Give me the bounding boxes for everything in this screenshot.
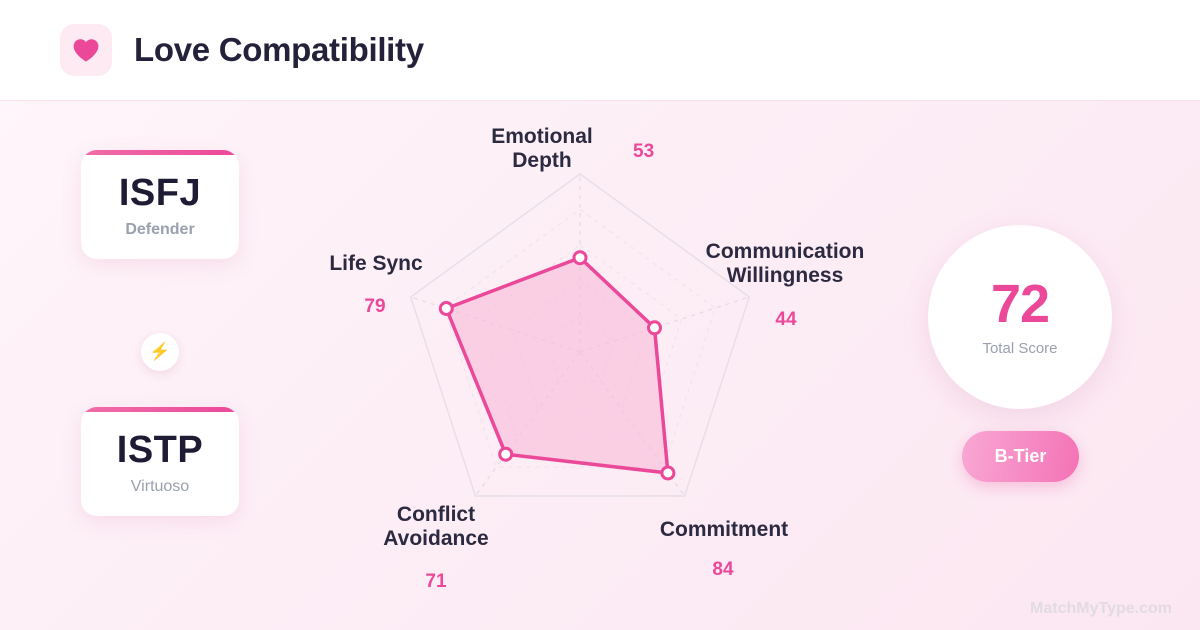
- axis-label-life-sync: Life Sync: [288, 252, 464, 276]
- type-role-secondary: Virtuoso: [81, 478, 239, 496]
- axis-value-emotional-depth: 53: [633, 141, 654, 163]
- axis-value-commitment: 84: [700, 559, 746, 581]
- watermark: MatchMyType.com: [1030, 600, 1172, 618]
- total-score-badge: 72 Total Score: [928, 225, 1112, 409]
- axis-value-life-sync: 79: [352, 296, 398, 318]
- tier-badge: B-Tier: [962, 431, 1079, 482]
- compatibility-card: Love Compatibility ISFJ Defender ⚡ ISTP …: [0, 0, 1200, 630]
- type-code-secondary: ISTP: [81, 429, 239, 472]
- type-code-primary: ISFJ: [81, 172, 239, 215]
- axis-label-line2: Depth: [512, 149, 572, 172]
- axis-label-line1: Commitment: [660, 518, 788, 541]
- axis-label-conflict-avoidance: Conflict Avoidance: [346, 503, 526, 550]
- header-bar: Love Compatibility: [0, 0, 1200, 101]
- axis-label-line1: Conflict: [397, 503, 475, 526]
- axis-label-line1: Emotional: [491, 125, 593, 148]
- card-accent-bar: [81, 150, 239, 155]
- type-card-primary: ISFJ Defender: [81, 150, 239, 259]
- total-score-caption: Total Score: [982, 340, 1057, 357]
- axis-label-line2: Willingness: [727, 264, 844, 287]
- lightning-bolt-icon: ⚡: [141, 333, 179, 371]
- type-card-secondary: ISTP Virtuoso: [81, 407, 239, 516]
- card-accent-bar: [81, 407, 239, 412]
- axis-value-communication-willingness: 44: [763, 309, 809, 331]
- axis-label-line2: Avoidance: [383, 527, 488, 550]
- axis-value-conflict-avoidance: 71: [413, 571, 459, 593]
- total-score-value: 72: [991, 277, 1049, 331]
- page-title: Love Compatibility: [134, 31, 424, 69]
- axis-label-line1: Communication: [706, 240, 865, 263]
- axis-label-line1: Life Sync: [329, 252, 422, 275]
- axis-label-emotional-depth: Emotional Depth: [452, 125, 632, 172]
- axis-label-communication-willingness: Communication Willingness: [665, 240, 905, 287]
- type-role-primary: Defender: [81, 221, 239, 239]
- axis-label-commitment: Commitment: [600, 518, 848, 542]
- heart-icon: [60, 24, 112, 76]
